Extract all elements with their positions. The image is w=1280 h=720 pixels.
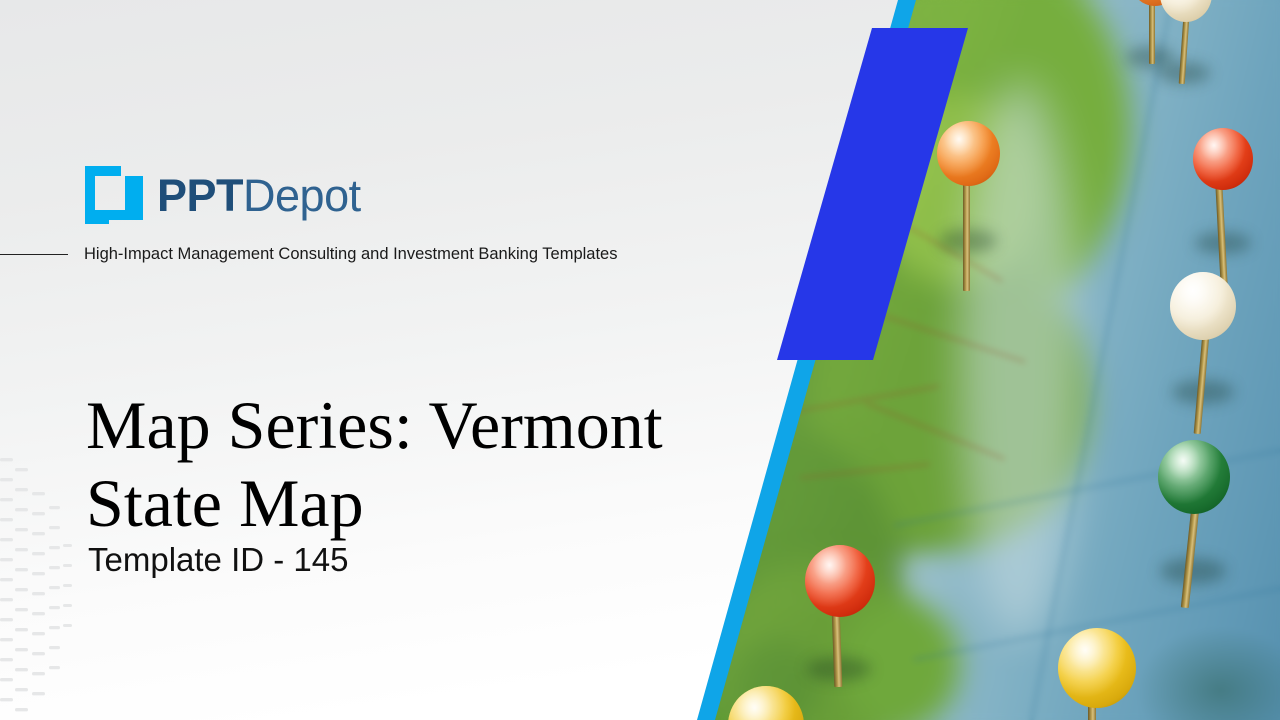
template-id-label: Template ID - 145 — [88, 541, 348, 579]
decorative-dash-pattern — [0, 440, 72, 720]
brand-wordmark: PPTDepot — [157, 173, 361, 218]
ppt-depot-logo-mark-icon — [85, 166, 143, 224]
map-texture — [660, 0, 1280, 720]
slide-canvas: PPTDepot High-Impact Management Consulti… — [0, 0, 1280, 720]
map-photo — [660, 0, 1280, 720]
tagline: High-Impact Management Consulting and In… — [0, 245, 720, 264]
tagline-text: High-Impact Management Consulting and In… — [84, 245, 618, 264]
brand-logo[interactable]: PPTDepot — [85, 166, 361, 224]
brand-name-light: Depot — [243, 170, 361, 221]
brand-name-bold: PPT — [157, 170, 243, 221]
page-title: Map Series: Vermont State Map — [86, 386, 746, 542]
tagline-rule — [0, 254, 68, 255]
